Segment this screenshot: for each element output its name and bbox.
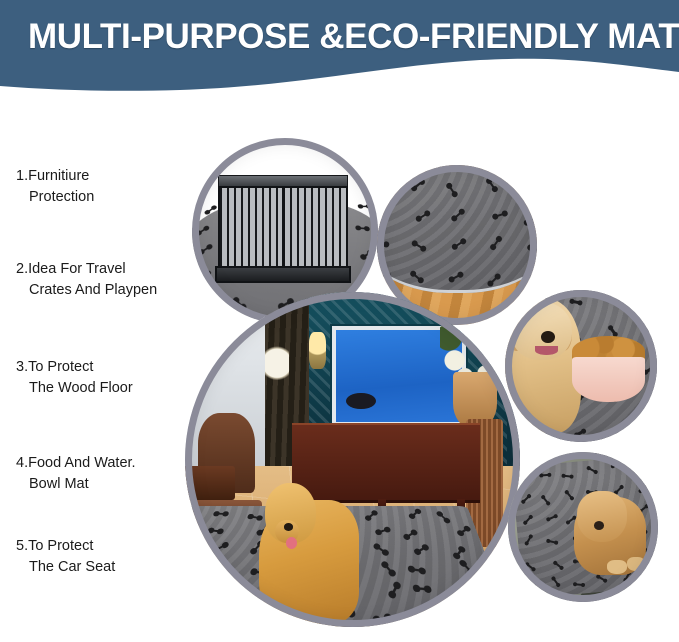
photo-food-bowl — [505, 290, 657, 442]
pink-food-bowl — [572, 357, 645, 403]
list-item: 3.To Protect The Wood Floor — [16, 357, 206, 399]
mat-surface-wood — [377, 165, 537, 293]
wooden-credenza — [292, 423, 480, 503]
list-item: 1.Furnitiure Protection — [16, 166, 206, 208]
feature-line-2: The Car Seat — [16, 557, 206, 578]
mirror-reflection-object — [346, 393, 376, 410]
photo-car-seat — [508, 452, 658, 602]
puppy-nose — [594, 521, 605, 530]
list-item: 2.Idea For Travel Crates And Playpen — [16, 259, 206, 301]
feature-line-2: Bowl Mat — [16, 474, 206, 495]
crate-divider — [282, 186, 285, 270]
list-item: 5.To Protect The Car Seat — [16, 536, 206, 578]
feature-line-1: 2.Idea For Travel — [16, 259, 206, 280]
crate-tray — [215, 266, 350, 283]
puppy-head — [577, 491, 627, 542]
list-item: 4.Food And Water. Bowl Mat — [16, 453, 206, 495]
feature-line-1: 5.To Protect — [16, 536, 206, 557]
header-banner: MULTI-PURPOSE &ECO-FRIENDLY MAT — [0, 0, 679, 100]
feature-line-1: 4.Food And Water. — [16, 453, 206, 474]
table-lamp — [265, 346, 288, 390]
photo-living-room — [185, 292, 520, 627]
feature-line-2: Protection — [16, 187, 206, 208]
wall-sconce — [309, 332, 326, 369]
dog-tongue — [286, 537, 297, 549]
puppy-paw — [627, 557, 645, 571]
dog-nose — [284, 523, 293, 530]
feature-line-2: The Wood Floor — [16, 378, 206, 399]
bone-pattern — [377, 165, 537, 293]
feature-line-1: 3.To Protect — [16, 357, 206, 378]
page-title: MULTI-PURPOSE &ECO-FRIENDLY MAT — [28, 17, 668, 57]
feature-line-2: Crates And Playpen — [16, 280, 206, 301]
dog-crate — [218, 175, 348, 283]
feature-line-1: 1.Furnitiure — [16, 166, 206, 187]
puppy-paw — [607, 560, 627, 574]
